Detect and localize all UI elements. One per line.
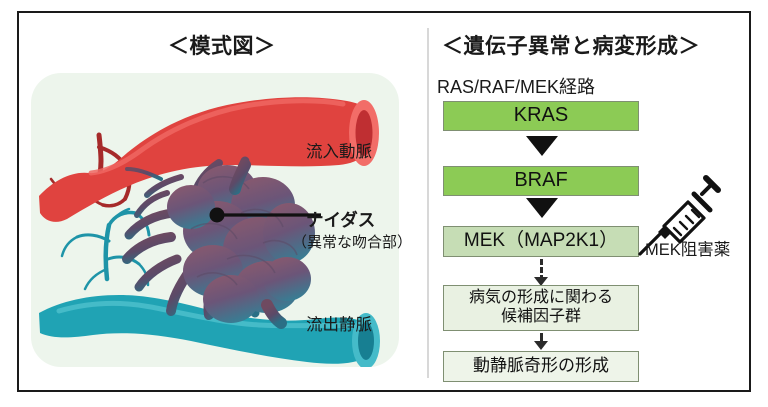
figure-root: ＜模式図＞ <box>0 0 768 407</box>
nidus-sublabel: （異常な吻合部） <box>292 231 412 252</box>
pathway-node-candidate-factors-label: 病気の形成に関わる 候補因子群 <box>469 289 613 327</box>
mek-inhibitor-label: MEK阻害薬 <box>645 236 730 260</box>
pathway-node-kras-label: KRAS <box>514 104 568 128</box>
pathway-node-mek-label: MEK（MAP2K1） <box>464 230 618 252</box>
arrow-braf-to-mek <box>526 198 558 218</box>
pathway-node-braf: BRAF <box>443 166 639 196</box>
candidate-factors-line1: 病気の形成に関わる <box>469 289 613 306</box>
pathway-node-kras: KRAS <box>443 101 639 131</box>
arrow-kras-to-braf <box>526 136 558 156</box>
dashed-arrowhead-avm <box>534 341 548 350</box>
pathway-node-avm-formation-label: 動静脈奇形の形成 <box>473 356 609 376</box>
pathway-node-avm-formation: 動静脈奇形の形成 <box>443 351 639 382</box>
pathway-node-mek: MEK（MAP2K1） <box>443 226 639 257</box>
outflow-vein-label: 流出静脈 <box>306 311 372 335</box>
inflow-artery-label: 流入動脈 <box>306 138 372 162</box>
pathway-caption: RAS/RAF/MEK経路 <box>437 73 595 99</box>
nidus-label: ナイダス <box>306 207 375 232</box>
right-panel-title: ＜遺伝子異常と病変形成＞ <box>442 30 700 60</box>
candidate-factors-line2: 候補因子群 <box>501 308 581 325</box>
panel-divider <box>427 28 429 378</box>
pathway-node-candidate-factors: 病気の形成に関わる 候補因子群 <box>443 285 639 331</box>
left-panel-title: ＜模式図＞ <box>168 30 276 60</box>
pathway-node-braf-label: BRAF <box>514 169 567 193</box>
